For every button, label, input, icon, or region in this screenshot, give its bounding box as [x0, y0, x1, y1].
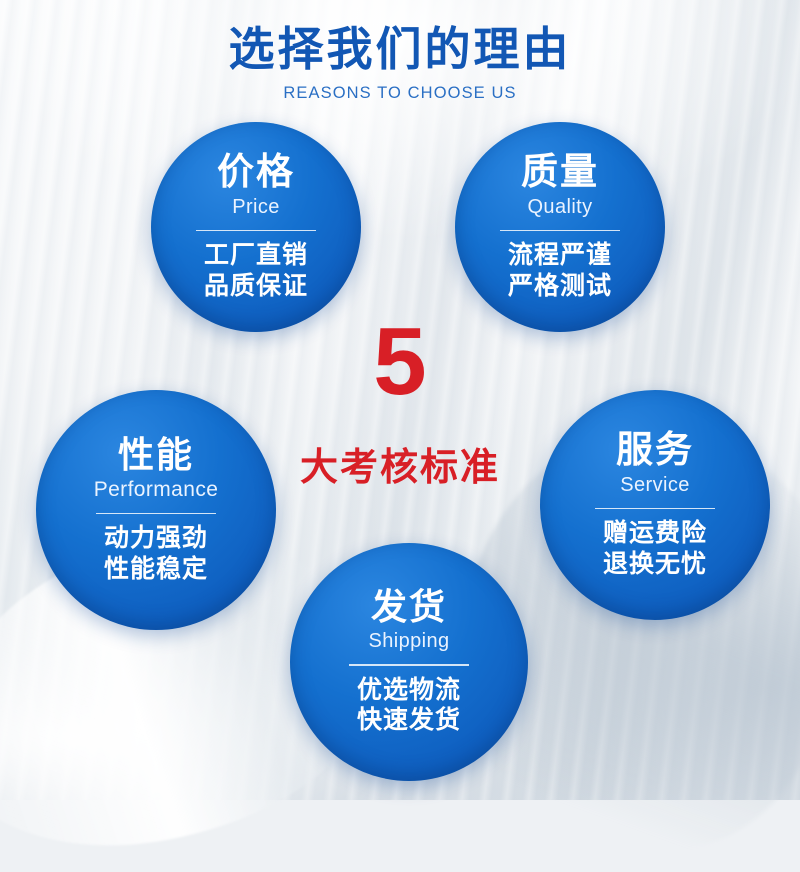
bubble-performance-desc-line2: 性能稳定 — [104, 554, 208, 585]
bubble-service-subtitle: Service — [620, 474, 690, 497]
bubble-quality-divider — [500, 230, 620, 232]
bubble-service-desc-line1: 赠运费险 — [603, 518, 707, 549]
bubble-quality-desc-line2: 严格测试 — [508, 271, 612, 302]
page-subtitle: REASONS TO CHOOSE US — [0, 84, 800, 103]
bubble-performance-divider — [96, 513, 216, 515]
page-title: 选择我们的理由 — [0, 26, 800, 72]
bubble-service-title: 服务 — [616, 431, 694, 470]
bubble-price-subtitle: Price — [232, 196, 280, 219]
bubble-shipping-divider — [349, 664, 469, 666]
bubble-price[interactable]: 价格 Price 工厂直销 品质保证 — [151, 122, 361, 332]
bubble-price-desc-line1: 工厂直销 — [204, 240, 308, 271]
bubble-price-title: 价格 — [217, 153, 295, 192]
bubble-quality-subtitle: Quality — [527, 196, 592, 219]
bubble-price-divider — [196, 230, 316, 232]
bubble-performance-title: 性能 — [118, 436, 194, 474]
bubble-shipping-desc-line2: 快速发货 — [357, 705, 461, 736]
header: 选择我们的理由 REASONS TO CHOOSE US — [0, 0, 800, 103]
bubble-quality-title: 质量 — [521, 153, 599, 192]
bubble-shipping-title: 发货 — [371, 588, 447, 626]
bubble-service-divider — [595, 508, 715, 510]
bubble-service[interactable]: 服务 Service 赠运费险 退换无忧 — [540, 390, 770, 620]
bubble-price-desc-line2: 品质保证 — [204, 271, 308, 302]
bubble-shipping[interactable]: 发货 Shipping 优选物流 快速发货 — [290, 543, 528, 781]
bubble-performance-subtitle: Performance — [94, 478, 219, 502]
bubble-quality-desc-line1: 流程严谨 — [508, 240, 612, 271]
bubble-shipping-desc-line1: 优选物流 — [357, 675, 461, 706]
bubble-quality[interactable]: 质量 Quality 流程严谨 严格测试 — [455, 122, 665, 332]
bubble-service-desc-line2: 退换无忧 — [603, 549, 707, 580]
bubble-performance[interactable]: 性能 Performance 动力强劲 性能稳定 — [36, 390, 276, 630]
bubble-performance-desc-line1: 动力强劲 — [104, 523, 208, 554]
bubble-shipping-subtitle: Shipping — [368, 630, 449, 653]
